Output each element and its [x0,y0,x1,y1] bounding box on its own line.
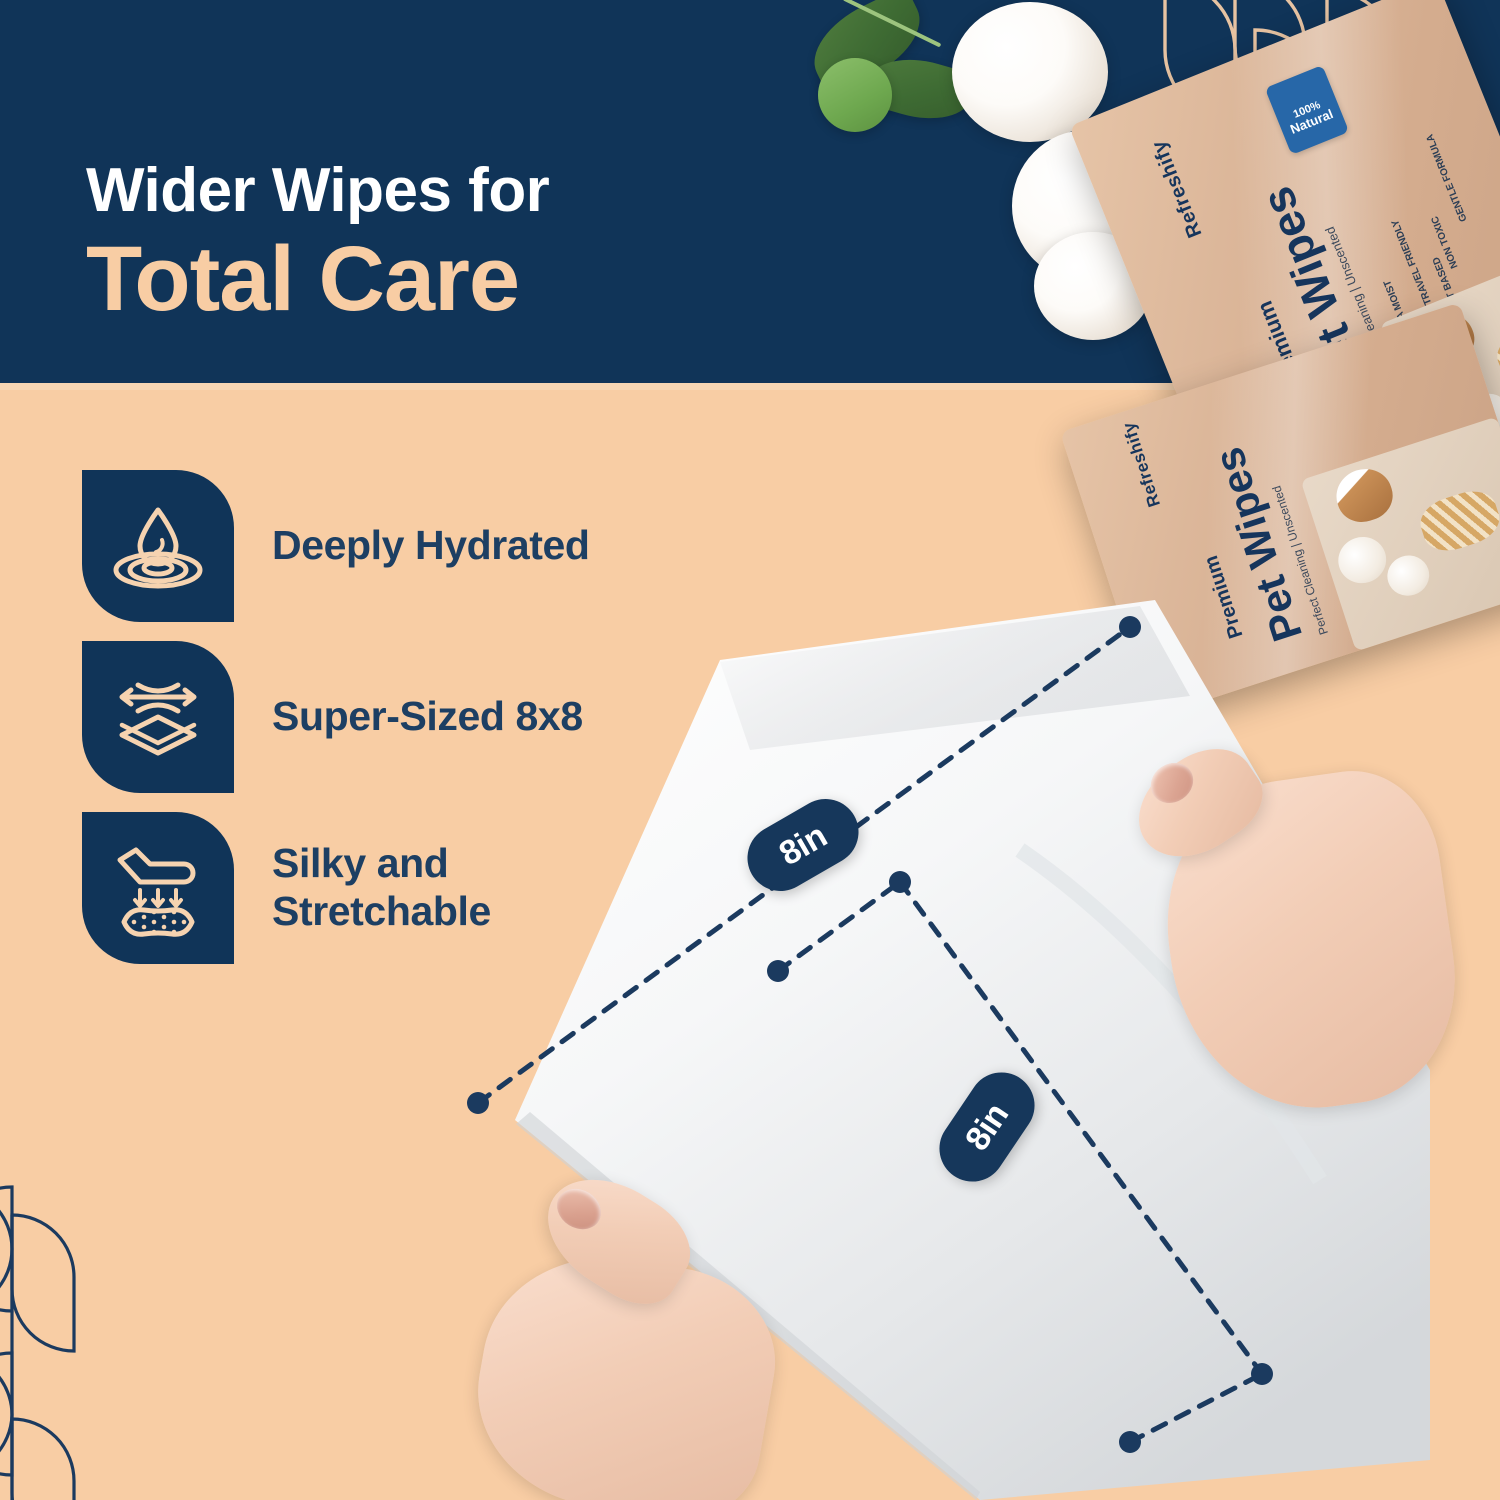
eucalyptus-leaf-round [818,58,892,132]
cotton-boll-print [1382,550,1434,601]
feature-item-deeply-hydrated[interactable]: Deeply Hydrated [82,470,590,622]
hand-press-soft-pad-icon [82,812,234,964]
headline-line-1: Wider Wipes for [86,160,549,222]
leaf-pattern-decoration-bottom [0,1175,260,1500]
feature-item-silky-stretchable[interactable]: Silky and Stretchable [82,812,590,964]
cotton-boll-print [1332,531,1392,590]
feature-item-super-sized[interactable]: Super-Sized 8x8 [82,641,590,793]
headline-line-2: Total Care [86,230,549,329]
water-droplet-ripple-icon [82,470,234,622]
stretch-layers-icon [82,641,234,793]
dog-illustration [1330,462,1399,529]
feature-label: Silky and Stretchable [272,840,491,935]
cat-illustration [1415,484,1500,558]
page-title: Wider Wipes for Total Care [86,160,549,329]
hand-upper-right [1110,708,1440,1108]
product-infographic: Wider Wipes for Total Care 100% Natural … [0,0,1500,1500]
hand-lower-left [450,1170,760,1500]
feature-label: Super-Sized 8x8 [272,693,583,741]
feature-label: Deeply Hydrated [272,522,590,570]
cat-illustration [1491,319,1500,388]
feature-list: Deeply Hydrated Super-Sized 8x8 [82,470,590,983]
